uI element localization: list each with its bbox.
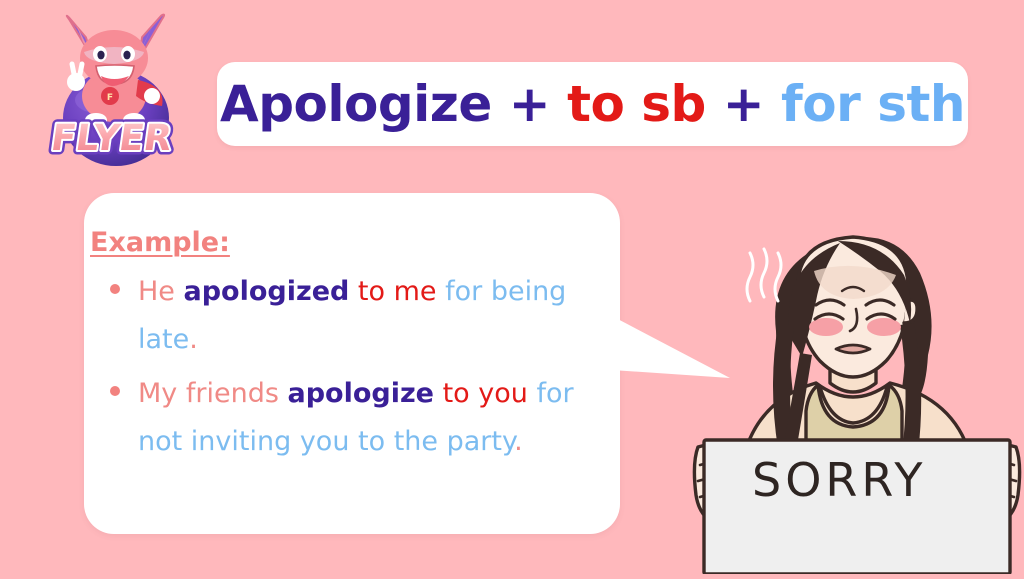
seg-verb: apologized (184, 276, 350, 307)
title-part-object: to sb (567, 75, 706, 133)
blush-right (867, 318, 901, 336)
seg-subject: He (138, 276, 184, 307)
example-list: He apologized to me for being late. My f… (110, 268, 610, 472)
example-sentence-1: He apologized to me for being late. (138, 268, 590, 364)
bullet-dot-icon (110, 386, 120, 396)
example-sentence-2: My friends apologize to you for not invi… (138, 370, 590, 466)
sorry-sign-text: SORRY (752, 453, 927, 507)
list-item: He apologized to me for being late. (110, 268, 610, 364)
sad-woman-art (690, 205, 1024, 574)
list-item: My friends apologize to you for not invi… (110, 370, 610, 466)
mouth (836, 345, 870, 353)
seg-object: to you (434, 378, 528, 409)
title-plus-2: + (723, 75, 764, 133)
speech-bubble-tail (612, 316, 730, 384)
title-part-reason: for sth (781, 75, 965, 133)
blush-left (809, 318, 843, 336)
poster-canvas: F FLYER FLYER FLYER (0, 0, 1024, 574)
bullet-dot-icon (110, 284, 120, 294)
page-title: Apologize + to sb + for sth (220, 79, 965, 129)
stress-lines-icon (747, 249, 781, 301)
sad-woman-illustration (690, 205, 1024, 574)
seg-verb: apologize (287, 378, 434, 409)
seg-period: . (514, 426, 523, 457)
flyer-logo[interactable]: F FLYER FLYER FLYER (42, 8, 190, 168)
title-plus-1: + (509, 75, 550, 133)
title-part-verb: Apologize (220, 75, 492, 133)
seg-subject: My friends (138, 378, 287, 409)
flyer-logo-art: F FLYER FLYER FLYER (42, 8, 190, 168)
logo-wordmark: FLYER (49, 116, 175, 159)
title-banner: Apologize + to sb + for sth (217, 62, 968, 146)
seg-period: . (189, 324, 198, 355)
example-label: Example: (90, 227, 230, 258)
logo-mascot-letter: F (107, 93, 113, 103)
seg-object: to me (349, 276, 436, 307)
